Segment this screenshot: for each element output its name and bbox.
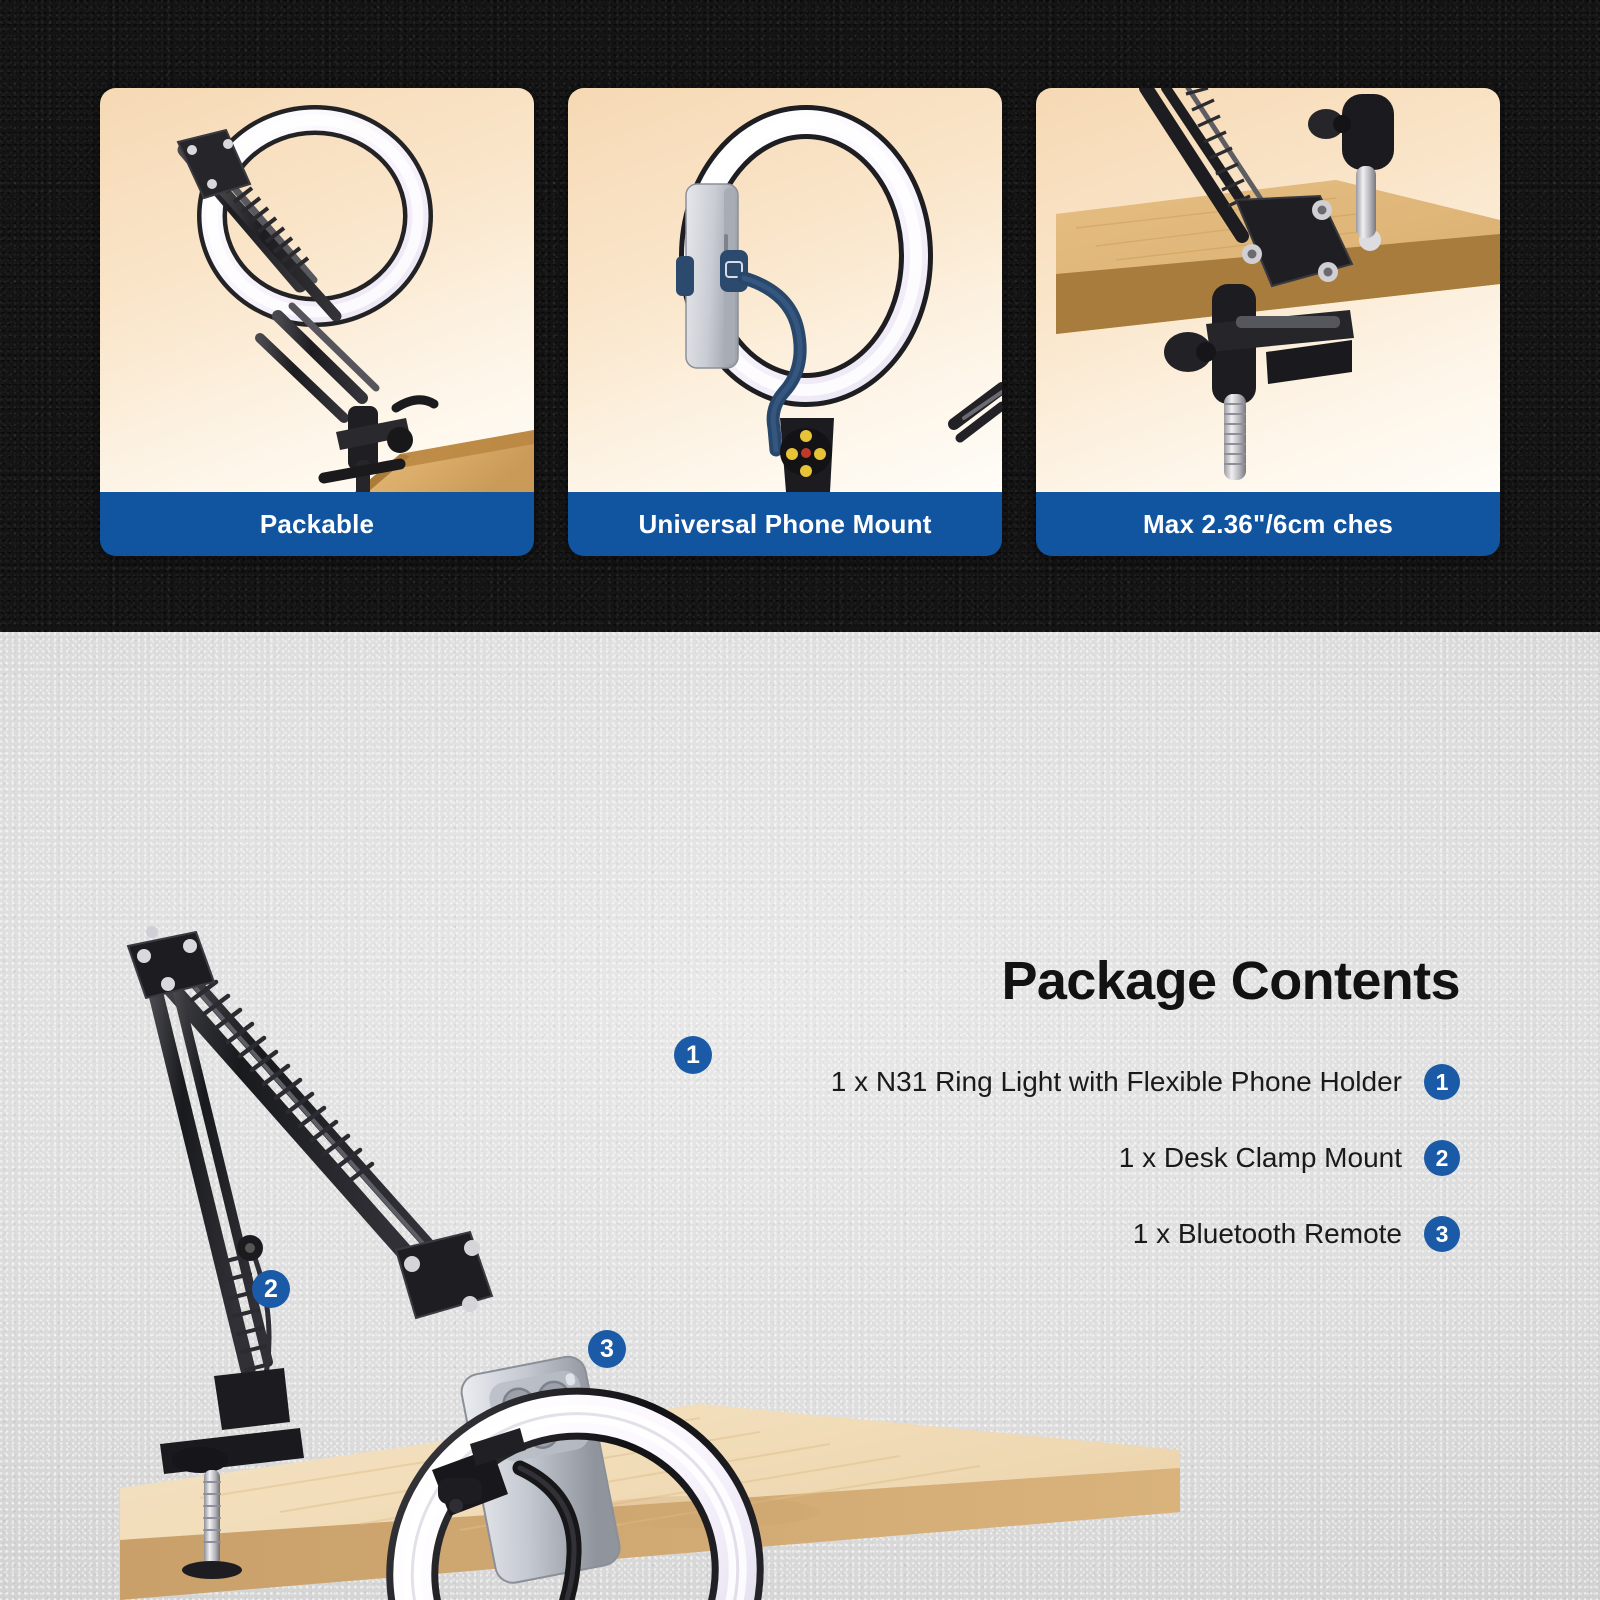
- ring-light-folded-illustration: [100, 88, 534, 492]
- package-contents-panel: Package Contents 1 x N31 Ring Light with…: [760, 950, 1460, 1292]
- arm-head-joint: [396, 1232, 492, 1318]
- package-item-badge-3: 3: [1424, 1216, 1460, 1252]
- feature-card-phone-mount[interactable]: Universal Phone Mount: [568, 88, 1002, 556]
- gooseneck-stub: [396, 400, 434, 408]
- callout-badge-1: 1: [674, 1036, 712, 1074]
- feature-caption-packable: Packable: [100, 492, 534, 556]
- ring-light-phone-mount-illustration: [568, 88, 1002, 492]
- package-item-badge-1: 1: [1424, 1064, 1460, 1100]
- feature-card-clamp-size[interactable]: Max 2.36"/6cm ches: [1036, 88, 1500, 556]
- control-panel: [780, 418, 834, 492]
- product-infographic: Packable: [0, 0, 1600, 1600]
- feature-caption-clamp-size: Max 2.36"/6cm ches: [1036, 492, 1500, 556]
- package-item-row: 1 x N31 Ring Light with Flexible Phone H…: [760, 1064, 1460, 1100]
- package-item-row: 1 x Bluetooth Remote 3: [760, 1216, 1460, 1252]
- features-section: Packable: [0, 0, 1600, 632]
- package-item-label-1: 1 x N31 Ring Light with Flexible Phone H…: [831, 1066, 1402, 1098]
- feature-card-packable-photo: [100, 88, 534, 492]
- feature-card-clamp-size-photo: [1036, 88, 1500, 492]
- package-item-label-3: 1 x Bluetooth Remote: [1133, 1218, 1402, 1250]
- callout-badge-3: 3: [588, 1330, 626, 1368]
- package-contents-section: 1 2 3 Package Contents 1 x N31 Ring Ligh…: [0, 632, 1600, 1600]
- ring-light-hero: [379, 1354, 772, 1600]
- callout-badge-2: 2: [252, 1270, 290, 1308]
- package-item-badge-2: 2: [1424, 1140, 1460, 1176]
- desk-clamp-closeup-illustration: [1036, 88, 1500, 492]
- feature-card-phone-mount-photo: [568, 88, 1002, 492]
- feature-caption-phone-mount: Universal Phone Mount: [568, 492, 1002, 556]
- side-boom-arm: [954, 388, 1002, 438]
- feature-card-packable[interactable]: Packable: [100, 88, 534, 556]
- package-item-label-2: 1 x Desk Clamp Mount: [1119, 1142, 1402, 1174]
- package-item-row: 1 x Desk Clamp Mount 2: [760, 1140, 1460, 1176]
- package-contents-title: Package Contents: [760, 950, 1460, 1012]
